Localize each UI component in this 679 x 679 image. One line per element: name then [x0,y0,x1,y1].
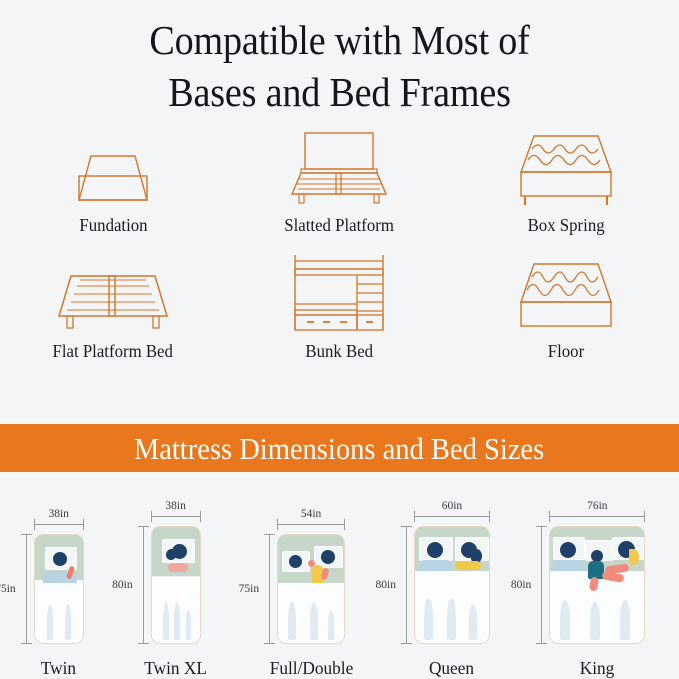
width-dimension-queen: 60in [414,509,490,521]
height-value: 75in [0,581,17,597]
size-diagram-twin: 38in 75in [34,534,84,644]
sleeper-head-icon [289,555,302,568]
base-item-slatted-platform: Slatted Platform [239,128,439,236]
base-item-flat-platform-bed: Flat Platform Bed [13,254,213,362]
base-item-floor: Floor [466,254,666,362]
foundation-icon [53,128,173,208]
size-label: Queen [429,658,474,679]
size-item-twin-xl: 38in 80in Twin XL [143,526,208,679]
width-value: 38in [161,500,189,512]
height-value: 80in [111,577,133,593]
page-title-line-2: Bases and Bed Frames [24,66,655,118]
sleeper-arm [455,561,481,570]
sleeper-head-icon [427,542,443,558]
sleeper-head-icon [53,552,67,566]
bunk-bed-icon [279,254,399,334]
mattress-illustration-king [549,526,645,644]
bed-sizes-row: 38in 75in Twin [0,484,679,679]
height-value: 80in [510,577,532,593]
size-diagram-king: 76in 80in [549,526,645,644]
width-dimension-king: 76in [549,509,645,521]
size-label: King [580,658,615,679]
compatible-bases-grid: Fundation Sla [0,128,679,362]
height-dimension-twin: 75in [19,534,31,644]
box-spring-icon [501,128,631,208]
section-banner-title: Mattress Dimensions and Bed Sizes [134,433,544,464]
height-value: 80in [375,577,397,593]
size-item-king: 76in 80in [549,526,645,679]
size-item-full-double: 54in 75in [268,534,355,679]
size-diagram-full-double: 54in 75in [277,534,345,644]
slatted-platform-icon [274,128,404,208]
size-diagram-queen: 60in 80in [414,526,490,644]
section-banner: Mattress Dimensions and Bed Sizes [0,424,679,472]
width-value: 76in [583,500,611,512]
width-dimension-twin-xl: 38in [151,509,201,521]
height-dimension-queen: 80in [399,526,411,644]
bases-row-2: Flat Platform Bed [0,254,679,362]
mattress-illustration-queen [414,526,490,644]
size-item-queen: 60in 80in [414,526,490,679]
base-label: Floor [548,341,584,362]
mattress-illustration-full-double [277,534,345,644]
size-label: Twin [41,658,76,679]
base-label: Flat Platform Bed [53,341,173,362]
height-value: 75in [238,581,260,597]
base-item-bunk-bed: Bunk Bed [239,254,439,362]
width-dimension-twin: 38in [34,517,84,529]
size-item-twin: 38in 75in Twin [34,534,84,679]
width-value: 60in [438,500,466,512]
sleeper-head-icon [321,550,335,564]
base-label: Box Spring [527,215,604,236]
width-value: 38in [44,508,72,520]
size-label: Twin XL [144,658,207,679]
size-diagram-twin-xl: 38in 80in [151,526,201,644]
width-dimension-full-double: 54in [277,517,345,529]
page-title-line-1: Compatible with Most of [24,14,655,66]
height-dimension-king: 80in [534,526,546,644]
sleeper-arm [168,563,188,572]
base-item-box-spring: Box Spring [466,128,666,236]
base-item-fundation: Fundation [13,128,213,236]
height-dimension-full-double: 75in [262,534,274,644]
bases-row-1: Fundation Sla [0,128,679,236]
page-title: Compatible with Most of Bases and Bed Fr… [0,0,679,118]
sleeper-hair [166,549,176,560]
mattress-illustration-twin [34,534,84,644]
size-label: Full/Double [269,658,353,679]
base-label: Fundation [79,215,147,236]
infographic-page: Compatible with Most of Bases and Bed Fr… [0,0,679,679]
width-value: 54in [297,508,325,520]
flat-platform-bed-icon [43,254,183,334]
floor-icon [501,254,631,334]
base-label: Slatted Platform [285,215,395,236]
base-label: Bunk Bed [306,341,374,362]
height-dimension-twin-xl: 80in [136,526,148,644]
mattress-illustration-twin-xl [151,526,201,644]
